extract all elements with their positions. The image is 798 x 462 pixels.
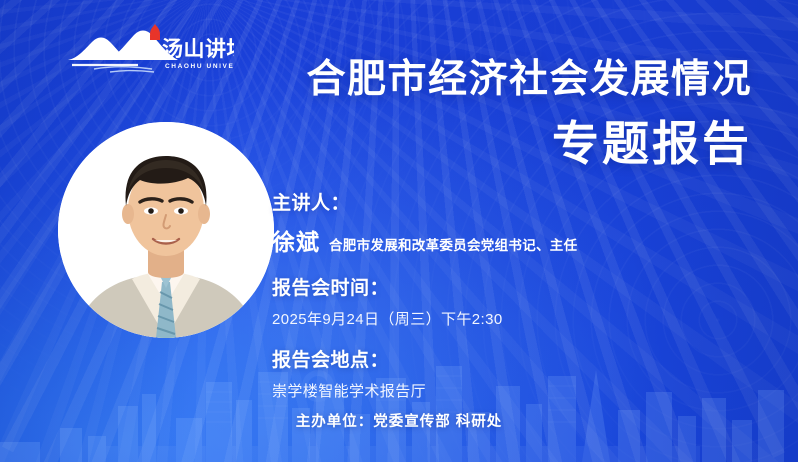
logo-wordmark-cn: 汤山讲坛 (162, 37, 234, 61)
speaker-portrait-image (58, 122, 274, 338)
event-details: 主讲人： 徐斌 合肥市发展和改革委员会党组书记、主任 报告会时间： 2025年9… (272, 188, 742, 401)
place-label: 报告会地点： (272, 345, 742, 372)
time-value: 2025年9月24日（周三）下午2:30 (272, 308, 742, 329)
headline-line-2: 专题报告 (306, 118, 752, 171)
speaker-name: 徐斌 (272, 223, 320, 257)
speaker-label: 主讲人： (272, 188, 742, 215)
forum-logo: 汤山讲坛 CHAOHU UNIVERSITY (66, 24, 234, 76)
headline: 合肥市经济社会发展情况 专题报告 (306, 58, 752, 170)
speaker-row: 徐斌 合肥市发展和改革委员会党组书记、主任 (272, 223, 742, 257)
time-label: 报告会时间： (272, 273, 742, 300)
speaker-title: 合肥市发展和改革委员会党组书记、主任 (329, 234, 577, 254)
place-value: 崇学楼智能学术报告厅 (272, 380, 742, 401)
logo-wordmark-en: CHAOHU UNIVERSITY (165, 63, 234, 70)
organizer-footer: 主办单位：党委宣传部 科研处 (0, 410, 798, 431)
speaker-portrait (58, 122, 274, 338)
headline-line-1: 合肥市经济社会发展情况 (306, 58, 752, 102)
logo-flame-accent (150, 24, 160, 40)
event-poster: 汤山讲坛 CHAOHU UNIVERSITY (0, 0, 798, 462)
